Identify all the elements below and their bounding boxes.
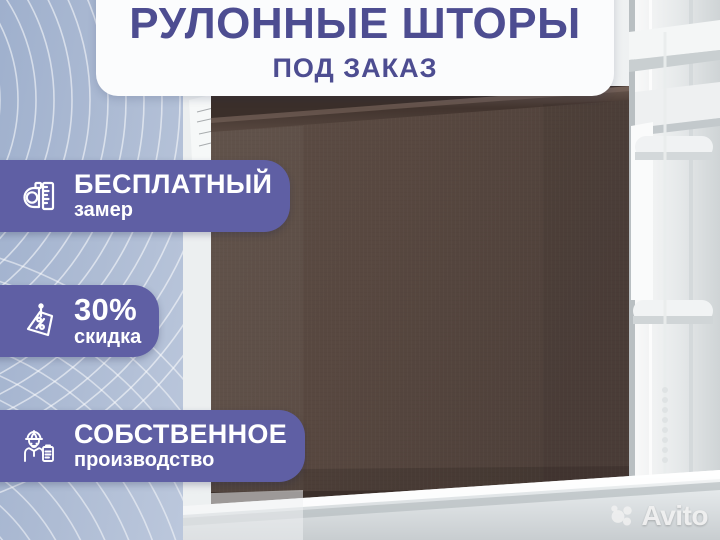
title-main: РУЛОННЫЕ ШТОРЫ [129, 2, 580, 46]
avito-wordmark: Avito [642, 502, 708, 530]
badge-text: СОБСТВЕННОЕ производство [74, 421, 287, 472]
avito-logo-icon [611, 505, 637, 527]
worker-icon [16, 423, 62, 469]
badge-line1: БЕСПЛАТНЫЙ [74, 171, 272, 199]
tape-measure-icon [16, 173, 62, 219]
title-sub: ПОД ЗАКАЗ [272, 55, 437, 82]
avito-watermark: Avito [611, 502, 708, 530]
badge-line1: СОБСТВЕННОЕ [74, 421, 287, 449]
title-banner: РУЛОННЫЕ ШТОРЫ ПОД ЗАКАЗ [96, 0, 614, 96]
badge-text: БЕСПЛАТНЫЙ замер [74, 171, 272, 222]
badge-line2: замер [74, 200, 272, 221]
badge-line1: 30% [74, 294, 141, 326]
badge-line2: производство [74, 450, 287, 471]
badge-free-measurement: БЕСПЛАТНЫЙ замер [0, 160, 290, 232]
badge-discount: 30% скидка [0, 285, 159, 357]
badge-text: 30% скидка [74, 294, 141, 349]
advertisement-image: РУЛОННЫЕ ШТОРЫ ПОД ЗАКАЗ БЕСПЛАТНЫЙ заме… [0, 0, 720, 540]
badge-line2: скидка [74, 327, 141, 348]
discount-tag-icon [16, 298, 62, 344]
badge-own-production: СОБСТВЕННОЕ производство [0, 410, 305, 482]
